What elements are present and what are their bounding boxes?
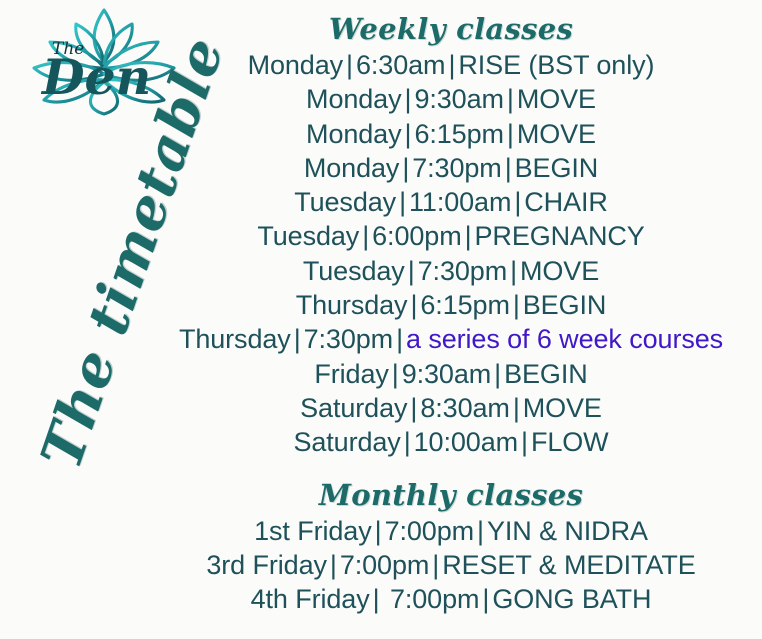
class-line: Tuesday|11:00am|CHAIR — [140, 185, 762, 219]
class-time: 6:15pm — [420, 290, 509, 320]
class-line: 3rd Friday|7:00pm|RESET & MEDITATE — [140, 548, 762, 582]
separator: | — [370, 584, 383, 614]
separator: | — [507, 256, 520, 286]
separator: | — [389, 359, 402, 389]
separator: | — [291, 324, 304, 354]
class-time: 6:00pm — [372, 221, 461, 251]
separator: | — [510, 290, 523, 320]
class-day: Tuesday — [294, 187, 396, 217]
separator: | — [510, 393, 523, 423]
separator: | — [402, 84, 415, 114]
class-name: BEGIN — [523, 290, 607, 320]
class-line: 1st Friday|7:00pm|YIN & NIDRA — [140, 514, 762, 548]
class-time: 9:30am — [402, 359, 491, 389]
class-day: Monday — [248, 50, 343, 80]
class-day: Thursday — [179, 324, 291, 354]
class-name-highlight: a series of 6 week courses — [406, 324, 723, 354]
schedule-column: Weekly classes Monday|6:30am|RISE (BST o… — [140, 0, 762, 639]
monthly-classes-list: 1st Friday|7:00pm|YIN & NIDRA3rd Friday|… — [140, 514, 762, 617]
class-line: Thursday|6:15pm|BEGIN — [140, 288, 762, 322]
separator: | — [407, 290, 420, 320]
class-name: MOVE — [523, 393, 602, 423]
class-line: Monday|9:30am|MOVE — [140, 82, 762, 116]
class-name: GONG BATH — [492, 584, 651, 614]
class-name: MOVE — [517, 84, 596, 114]
class-time: 7:30pm — [304, 324, 393, 354]
class-day: Monday — [306, 119, 401, 149]
class-line: Saturday|8:30am|MOVE — [140, 391, 762, 425]
class-time: 7:00pm — [340, 550, 429, 580]
separator: | — [343, 50, 356, 80]
class-line: Tuesday|6:00pm|PREGNANCY — [140, 219, 762, 253]
class-name: CHAIR — [524, 187, 608, 217]
class-time: 10:00am — [414, 427, 518, 457]
class-time: 11:00am — [409, 187, 511, 217]
class-time: 8:30am — [420, 393, 509, 423]
separator: | — [429, 550, 442, 580]
class-line: Tuesday|7:30pm|MOVE — [140, 254, 762, 288]
separator: | — [405, 256, 418, 286]
class-name: RISE (BST only) — [458, 50, 654, 80]
class-name: RESET & MEDITATE — [442, 550, 695, 580]
class-name: MOVE — [520, 256, 599, 286]
class-day: Monday — [306, 84, 401, 114]
class-day: 3rd Friday — [206, 550, 327, 580]
class-day: Monday — [304, 153, 399, 183]
separator: | — [445, 50, 458, 80]
class-line: Thursday|7:30pm|a series of 6 week cours… — [140, 322, 762, 356]
separator: | — [402, 119, 415, 149]
class-line: Friday|9:30am|BEGIN — [140, 357, 762, 391]
separator: | — [327, 550, 340, 580]
class-time: 6:30am — [356, 50, 445, 80]
separator: | — [504, 119, 517, 149]
class-name: YIN & NIDRA — [487, 516, 648, 546]
class-time: 7:30pm — [418, 256, 507, 286]
class-name: FLOW — [531, 427, 609, 457]
class-day: Saturday — [300, 393, 407, 423]
class-day: Friday — [314, 359, 388, 389]
class-line: Monday|6:30am|RISE (BST only) — [140, 48, 762, 82]
class-day: Saturday — [293, 427, 400, 457]
monthly-classes-heading: Monthly classes — [140, 477, 762, 513]
class-time: 7:30pm — [412, 153, 501, 183]
class-line: Saturday|10:00am|FLOW — [140, 425, 762, 459]
separator: | — [359, 221, 372, 251]
class-day: 4th Friday — [251, 584, 370, 614]
class-time: 7:00pm — [385, 516, 474, 546]
separator: | — [474, 516, 487, 546]
class-time: 6:15pm — [414, 119, 503, 149]
separator: | — [372, 516, 385, 546]
separator: | — [393, 324, 406, 354]
class-day: 1st Friday — [254, 516, 372, 546]
weekly-classes-heading: Weekly classes — [140, 11, 762, 47]
separator: | — [401, 427, 414, 457]
class-day: Thursday — [296, 290, 408, 320]
separator: | — [407, 393, 420, 423]
separator: | — [491, 359, 504, 389]
timetable-poster: The Den The timetable Weekly classes Mon… — [0, 0, 762, 639]
class-time: 7:00pm — [383, 584, 480, 614]
class-time: 9:30am — [414, 84, 503, 114]
separator: | — [518, 427, 531, 457]
class-day: Tuesday — [303, 256, 405, 286]
separator: | — [479, 584, 492, 614]
class-name: BEGIN — [504, 359, 588, 389]
class-name: BEGIN — [515, 153, 599, 183]
weekly-classes-list: Monday|6:30am|RISE (BST only)Monday|9:30… — [140, 48, 762, 460]
separator: | — [502, 153, 515, 183]
separator: | — [399, 153, 412, 183]
class-line: Monday|7:30pm|BEGIN — [140, 151, 762, 185]
separator: | — [396, 187, 409, 217]
separator: | — [504, 84, 517, 114]
class-name: PREGNANCY — [475, 221, 645, 251]
class-line: 4th Friday| 7:00pm|GONG BATH — [140, 582, 762, 616]
class-name: MOVE — [517, 119, 596, 149]
class-day: Tuesday — [257, 221, 359, 251]
class-line: Monday|6:15pm|MOVE — [140, 117, 762, 151]
separator: | — [511, 187, 524, 217]
separator: | — [462, 221, 475, 251]
logo-script-den: Den — [40, 48, 151, 106]
